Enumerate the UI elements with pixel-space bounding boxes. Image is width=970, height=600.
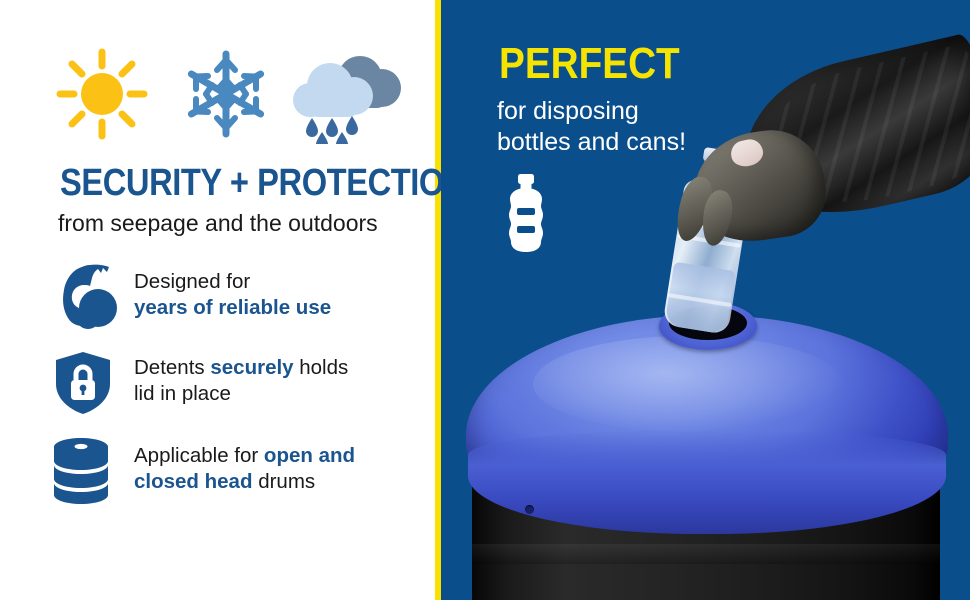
list-item-text: Designed for years of reliable use (134, 264, 432, 321)
list-item-text: Applicable for open and closed head drum… (134, 438, 432, 495)
feature-1-line2: years of reliable use (134, 296, 331, 319)
feature-2-line2: lid in place (134, 382, 231, 405)
clear-plastic-bottle (655, 144, 768, 337)
product-feature-banner: SECURITY + PROTECTION from seepage and t… (0, 0, 970, 600)
bottle-ridge (679, 220, 743, 234)
list-item: Designed for years of reliable use (52, 264, 432, 330)
feature-3-line2-post: drums (253, 470, 316, 493)
feature-3-bold: open and (264, 444, 355, 467)
bottle-body (662, 178, 750, 335)
drum-with-hand-dropping-bottle-photo (441, 0, 970, 600)
list-item: Detents securely holds lid in place (52, 350, 432, 416)
sun-icon (52, 44, 152, 144)
right-headline: PERFECT (499, 42, 680, 86)
sleeve-folds (747, 42, 970, 222)
right-panel: PERFECT for disposing bottles and cans! (441, 0, 970, 600)
snowflake-icon (176, 44, 276, 144)
lid-opening-ring (659, 302, 757, 350)
feature-2-post: holds (294, 356, 349, 379)
feature-list: Designed for years of reliable use (52, 264, 432, 504)
bottle-ridge (677, 234, 741, 248)
rain-cloud-icon (286, 44, 404, 144)
left-panel: SECURITY + PROTECTION from seepage and t… (0, 0, 435, 600)
feature-1-line1: Designed for (134, 270, 250, 293)
list-item-text: Detents securely holds lid in place (134, 350, 432, 407)
water-bottle-icon (499, 174, 553, 258)
dark-sleeve (727, 32, 970, 234)
bottle-ridge (668, 293, 732, 307)
page-subtitle: from seepage and the outdoors (58, 210, 438, 237)
drum-lid-rim (468, 430, 946, 534)
list-item: Applicable for open and closed head drum… (52, 438, 432, 504)
right-subtitle-line2: bottles and cans! (497, 128, 686, 156)
feature-3-line2-bold: closed head (134, 470, 253, 493)
bottle-liquid (664, 262, 735, 335)
feature-2-bold: securely (210, 356, 293, 379)
blue-drum-lid (466, 315, 948, 530)
feature-3-pre: Applicable for (134, 444, 264, 467)
finger (698, 188, 735, 248)
weather-icon-row (46, 44, 396, 144)
finger (670, 173, 717, 245)
bicep-icon (52, 264, 134, 330)
feature-2-pre: Detents (134, 356, 210, 379)
right-subtitle-line1: for disposing (497, 97, 639, 125)
drum-lid-highlight (533, 336, 843, 432)
thumb-nail (729, 137, 766, 169)
black-drum-body (472, 470, 940, 600)
gloved-hand (686, 123, 832, 248)
vent-hole (525, 505, 534, 514)
drum-icon (52, 438, 134, 504)
bottle-ridge (682, 206, 746, 220)
shield-lock-icon (52, 350, 134, 416)
right-subtitle: for disposing bottles and cans! (497, 96, 686, 158)
lid-opening-hole (669, 306, 747, 340)
bottle-neck (700, 155, 737, 194)
bottle-cap (703, 147, 741, 166)
page-title: SECURITY + PROTECTION (60, 163, 370, 203)
